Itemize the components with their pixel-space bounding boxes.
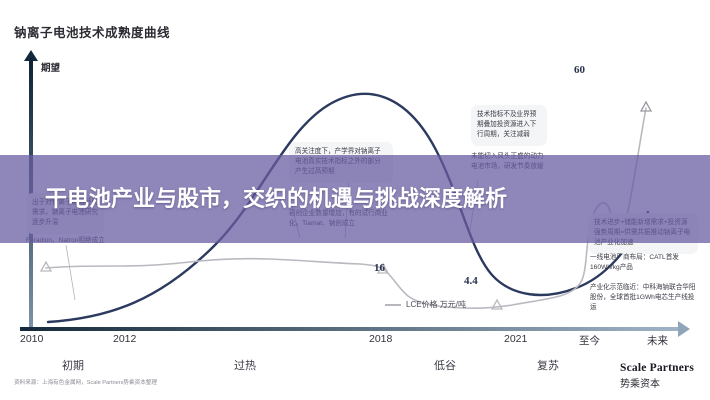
leader-line-early — [66, 245, 75, 300]
stage-label-hype: 过热 — [234, 357, 256, 373]
brand-name-cn: 势乘资本 — [620, 375, 694, 390]
lce-marker-2010 — [41, 262, 51, 271]
headline-overlay: 干电池产业与股市，交织的机遇与挑战深度解析 — [0, 155, 710, 243]
legend-label-lce: LCE价格 万元/吨 — [406, 299, 466, 310]
data-label-60: 60 — [574, 64, 585, 76]
data-label-4-4: 4.4 — [464, 275, 478, 287]
chart-canvas: 钠离子电池技术成熟度曲线 期望 16 4.4 60 出于对锂离子电池替代需求，钠… — [0, 0, 710, 400]
x-tick-future: 未来 — [647, 333, 668, 348]
stage-label-early: 初期 — [62, 357, 84, 373]
x-tick-now: 至今 — [579, 333, 600, 348]
note-trough-downturn: 技术指标不及业界预期叠加投资源进入下行周期，关注减弱 — [471, 105, 547, 146]
legend-swatch-lce — [385, 304, 401, 306]
note-recovery-catl: 一线电池厂商布局：CATL首发160Wh/kg产品 — [590, 253, 698, 273]
x-tick-2018: 2018 — [369, 333, 392, 345]
x-tick-2010: 2010 — [20, 333, 43, 345]
x-tick-2012: 2012 — [113, 333, 136, 345]
legend: LCE价格 万元/吨 — [385, 299, 466, 310]
brand-logo: Scale Partners 势乘资本 — [620, 362, 694, 390]
brand-name-en: Scale Partners — [620, 362, 694, 374]
note-recovery-pilot: 产业化示范临近：中科海钠联合华阳股份，全球首批1GWh电芯生产线投运 — [590, 283, 698, 314]
headline-text: 干电池产业与股市，交织的机遇与挑战深度解析 — [45, 184, 665, 213]
x-tick-2021: 2021 — [504, 333, 527, 345]
stage-label-recovery: 复苏 — [537, 357, 559, 373]
stage-label-trough: 低谷 — [434, 357, 456, 373]
data-label-16: 16 — [374, 262, 385, 274]
source-note: 资料来源：上海有色金属网，Scale Partners势乘资本整理 — [14, 378, 157, 386]
